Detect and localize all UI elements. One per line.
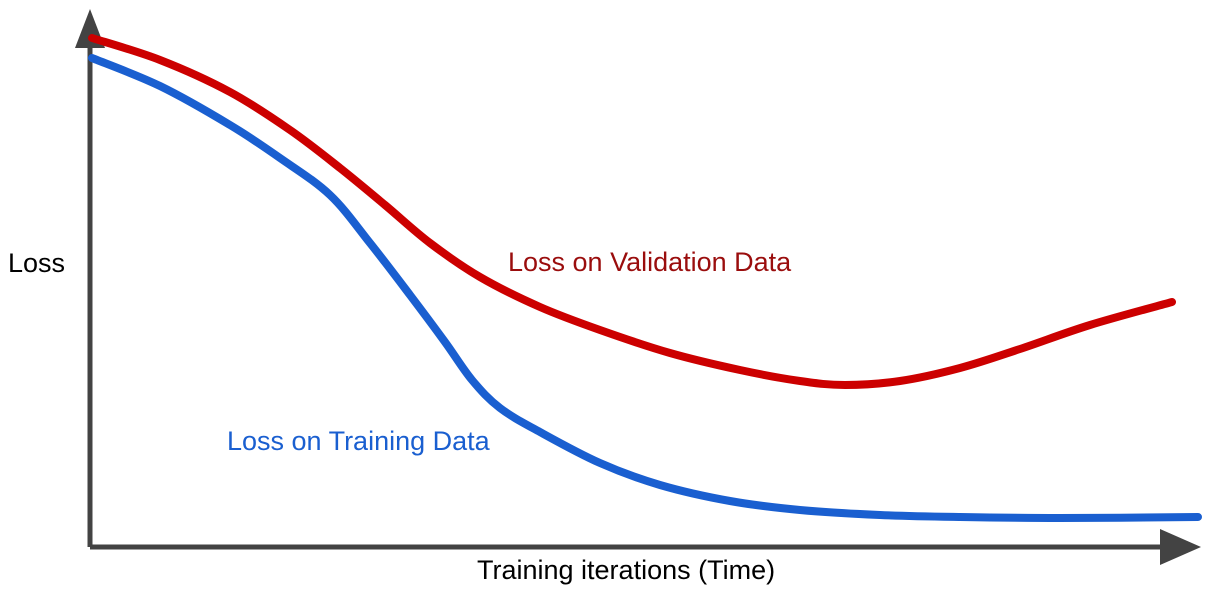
chart-canvas bbox=[0, 0, 1206, 591]
training-series-label: Loss on Training Data bbox=[227, 428, 490, 455]
x-axis-arrow-icon bbox=[1160, 529, 1201, 565]
y-axis-title: Loss bbox=[8, 250, 65, 277]
x-axis-title: Training iterations (Time) bbox=[477, 557, 775, 584]
validation-series-label: Loss on Validation Data bbox=[508, 249, 791, 276]
loss-curve-figure: Loss Training iterations (Time) Loss on … bbox=[0, 0, 1206, 591]
validation-loss-curve bbox=[92, 38, 1172, 385]
